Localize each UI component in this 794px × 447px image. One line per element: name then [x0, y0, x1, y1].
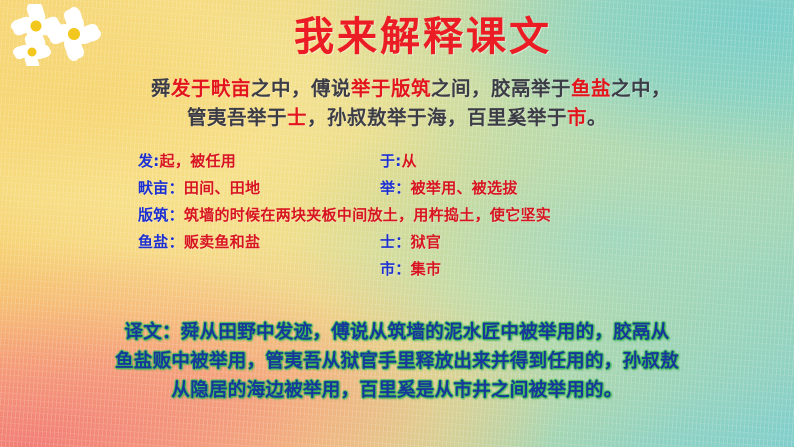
passage-seg-highlight: 鱼盐 — [571, 77, 611, 100]
gloss-definition: 从 — [402, 152, 417, 170]
gloss-definition: 被举用、被选拔 — [411, 179, 518, 197]
gloss-entry: 举：被举用、被选拔 — [380, 175, 518, 202]
passage-line-2: 管夷吾举于士，孙叔敖举于海，百里奚举于市。 — [0, 103, 794, 132]
gloss-definition: 集市 — [411, 260, 442, 278]
gloss-definition: 起，被任用 — [160, 152, 237, 170]
passage-seg: 舜 — [151, 77, 171, 100]
translation-line: 从隐居的海边被举用，百里奚是从市井之间被举用的。 — [0, 376, 794, 405]
passage-seg: 之间，胶鬲举于 — [431, 77, 571, 100]
translation-block: 译文：舜从田野中发迹，傅说从筑墙的泥水匠中被举用的，胶鬲从 鱼盐贩中被举用，管夷… — [0, 318, 794, 405]
gloss-term: 版筑： — [138, 206, 184, 224]
gloss-entry: 士：狱官 — [380, 229, 518, 256]
passage-seg-highlight: 举于版筑 — [351, 77, 431, 100]
gloss-term: 发: — [138, 152, 160, 170]
passage-seg: 管夷吾举于 — [187, 106, 287, 129]
gloss-term: 举： — [380, 179, 411, 197]
gloss-term: 畎亩： — [138, 179, 184, 197]
passage-seg: 之中，傅说 — [251, 77, 351, 100]
passage-seg: 。 — [587, 106, 607, 129]
gloss-term: 士： — [380, 233, 411, 251]
translation-line: 鱼盐贩中被举用，管夷吾从狱官手里释放出来并得到任用的，孙叔敖 — [0, 347, 794, 376]
gloss-entry: 市：集市 — [380, 256, 518, 283]
translation-line: 译文：舜从田野中发迹，傅说从筑墙的泥水匠中被举用的，胶鬲从 — [0, 318, 794, 347]
classical-passage: 舜发于畎亩之中，傅说举于版筑之间，胶鬲举于鱼盐之中， 管夷吾举于士，孙叔敖举于海… — [0, 74, 794, 132]
passage-seg-highlight: 市 — [567, 106, 587, 129]
gloss-column-right: 于:从 举：被举用、被选拔 士：狱官 市：集市 — [380, 148, 518, 283]
gloss-term: 市： — [380, 260, 411, 278]
gloss-entry: 于:从 — [380, 148, 518, 175]
passage-seg-highlight: 士 — [287, 106, 307, 129]
vocabulary-gloss-block: 发:起，被任用 畎亩：田间、田地 版筑：筑墙的时候在两块夹板中间放土，用杵捣土，… — [0, 148, 794, 303]
gloss-term: 鱼盐： — [138, 233, 184, 251]
page-title: 我来解释课文 — [0, 13, 794, 61]
passage-line-1: 舜发于畎亩之中，傅说举于版筑之间，胶鬲举于鱼盐之中， — [0, 74, 794, 103]
gloss-term: 于: — [380, 152, 402, 170]
gloss-definition: 狱官 — [411, 233, 442, 251]
slide-canvas: 我来解释课文 舜发于畎亩之中，傅说举于版筑之间，胶鬲举于鱼盐之中， 管夷吾举于士… — [0, 0, 794, 447]
gloss-definition: 贩卖鱼和盐 — [184, 233, 261, 251]
passage-seg-highlight: 发于畎亩 — [171, 77, 251, 100]
gloss-definition: 田间、田地 — [184, 179, 261, 197]
passage-seg: ，孙叔敖举于海，百里奚举于 — [307, 106, 567, 129]
passage-seg: 之中， — [611, 77, 671, 100]
